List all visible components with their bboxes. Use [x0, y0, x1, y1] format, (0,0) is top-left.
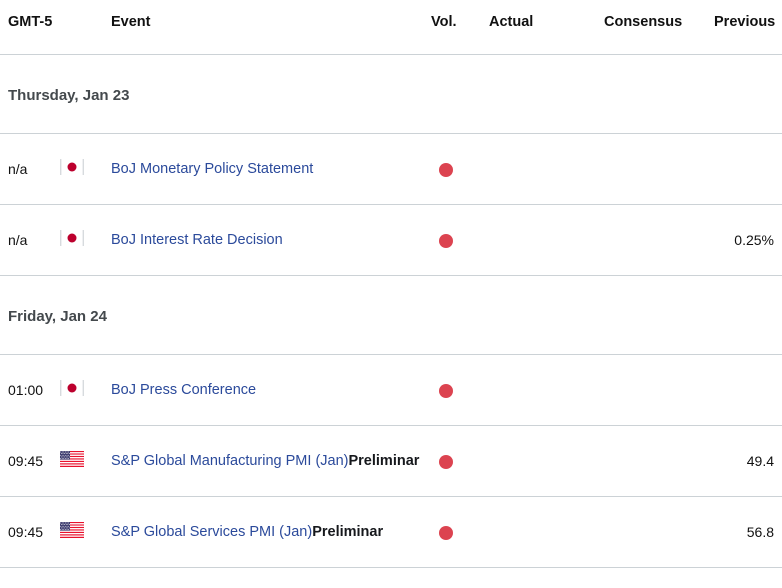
event-previous-value: 49.4 — [683, 452, 774, 471]
table-header-row: GMT-5 Event Vol. Actual Consensus Previo… — [0, 0, 782, 55]
date-group-label: Friday, Jan 24 — [8, 307, 107, 326]
event-name-link[interactable]: S&P Global Manufacturing PMI (Jan)Prelim… — [111, 452, 451, 472]
column-header-event[interactable]: Event — [111, 13, 441, 31]
event-time: n/a — [8, 231, 54, 250]
event-time: 09:45 — [8, 523, 54, 542]
economic-calendar-table: GMT-5 Event Vol. Actual Consensus Previo… — [0, 0, 782, 568]
event-time: n/a — [8, 160, 54, 179]
table-row[interactable]: n/aBoJ Interest Rate Decision0.25% — [0, 205, 782, 276]
event-previous-value: 56.8 — [683, 523, 774, 542]
table-row[interactable]: 01:00BoJ Press Conference — [0, 355, 782, 426]
date-group-header: Thursday, Jan 23 — [0, 55, 782, 134]
date-group-label: Thursday, Jan 23 — [8, 86, 129, 105]
event-name-link[interactable]: S&P Global Services PMI (Jan)Preliminar — [111, 523, 451, 543]
volatility-dot-icon[interactable] — [439, 384, 453, 398]
table-row[interactable]: n/aBoJ Monetary Policy Statement — [0, 134, 782, 205]
event-name-text: BoJ Interest Rate Decision — [111, 232, 283, 248]
table-body: Thursday, Jan 23n/aBoJ Monetary Policy S… — [0, 55, 782, 568]
event-name-link[interactable]: BoJ Interest Rate Decision — [111, 231, 451, 251]
flag-usa-icon — [60, 522, 84, 538]
event-time: 01:00 — [8, 381, 54, 400]
volatility-dot-icon[interactable] — [439, 163, 453, 177]
table-row[interactable]: 09:45S&P Global Manufacturing PMI (Jan)P… — [0, 426, 782, 497]
event-qualifier-text: Preliminar — [348, 453, 419, 469]
volatility-dot-icon[interactable] — [439, 526, 453, 540]
event-time: 09:45 — [8, 452, 54, 471]
column-header-actual[interactable]: Actual — [489, 13, 579, 31]
flag-japan-icon — [60, 159, 84, 175]
event-name-text: BoJ Monetary Policy Statement — [111, 161, 313, 177]
column-header-previous[interactable]: Previous — [714, 13, 782, 31]
volatility-dot-icon[interactable] — [439, 234, 453, 248]
date-group-header: Friday, Jan 24 — [0, 276, 782, 355]
event-qualifier-text: Preliminar — [312, 524, 383, 540]
volatility-dot-icon[interactable] — [439, 455, 453, 469]
event-previous-value: 0.25% — [683, 231, 774, 250]
column-header-consensus[interactable]: Consensus — [604, 13, 704, 31]
event-name-text: S&P Global Services PMI (Jan) — [111, 524, 312, 540]
event-name-text: BoJ Press Conference — [111, 382, 256, 398]
table-row[interactable]: 09:45S&P Global Services PMI (Jan)Prelim… — [0, 497, 782, 568]
column-header-time[interactable]: GMT-5 — [8, 13, 54, 31]
event-name-link[interactable]: BoJ Press Conference — [111, 381, 451, 401]
flag-japan-icon — [60, 230, 84, 246]
flag-usa-icon — [60, 451, 84, 467]
flag-japan-icon — [60, 380, 84, 396]
event-name-text: S&P Global Manufacturing PMI (Jan) — [111, 453, 348, 469]
event-name-link[interactable]: BoJ Monetary Policy Statement — [111, 160, 451, 180]
column-header-volatility[interactable]: Vol. — [431, 13, 471, 31]
